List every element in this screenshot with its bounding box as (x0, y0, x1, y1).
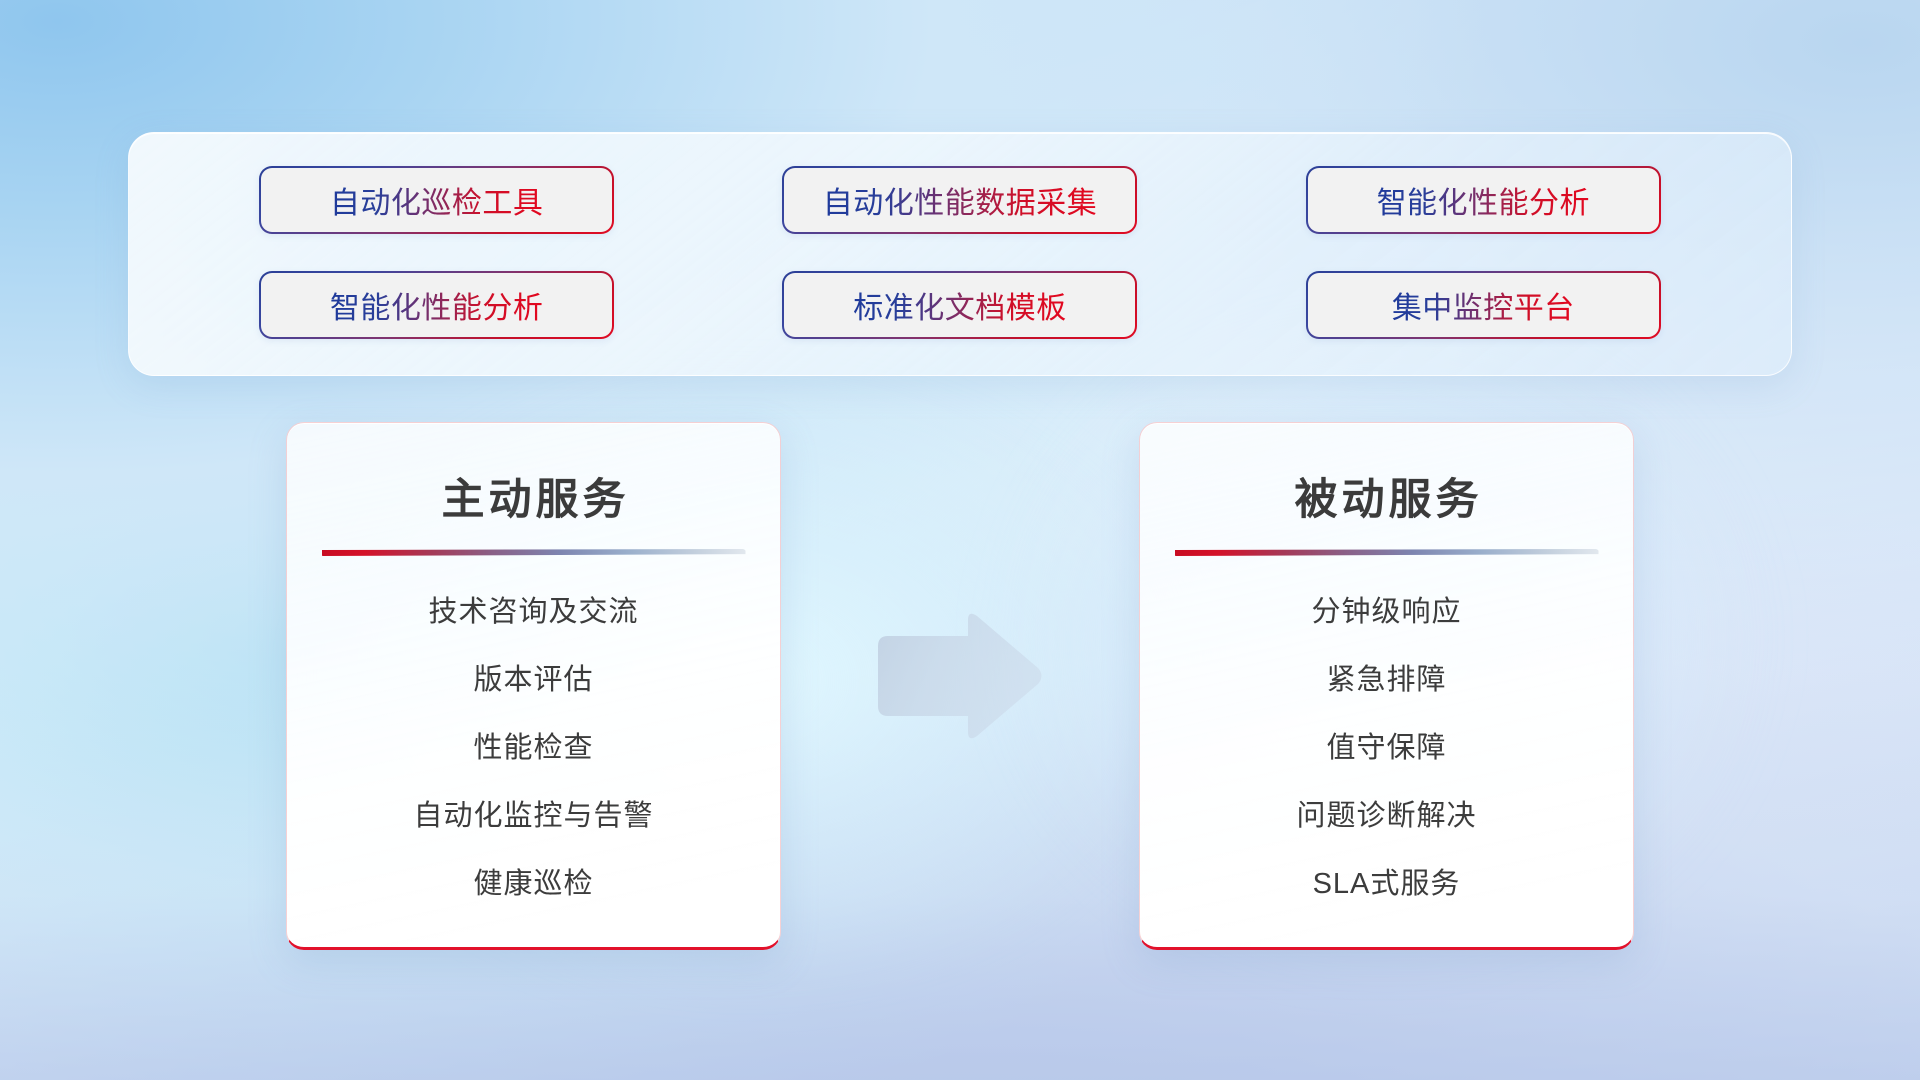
card-divider (322, 549, 746, 556)
card-divider (1175, 549, 1599, 556)
capability-pill[interactable]: 智能化性能分析 (259, 271, 614, 339)
capability-pill-label: 集中监控平台 (1392, 283, 1575, 327)
capability-pill-label: 自动化性能数据采集 (823, 178, 1098, 222)
list-item: 自动化监控与告警 (413, 792, 653, 834)
list-item: 性能检查 (473, 724, 593, 766)
capability-pill[interactable]: 集中监控平台 (1306, 271, 1661, 339)
card-title: 被动服务 (1291, 465, 1483, 527)
list-item: 版本评估 (473, 656, 593, 698)
list-item: 分钟级响应 (1311, 588, 1461, 630)
capability-pill[interactable]: 智能化性能分析 (1306, 166, 1661, 234)
card-title: 主动服务 (438, 465, 630, 527)
list-item: SLA式服务 (1313, 860, 1461, 902)
capability-pill-label: 标准化文档模板 (853, 283, 1067, 327)
capability-pill[interactable]: 标准化文档模板 (782, 271, 1137, 339)
capability-pill-label: 智能化性能分析 (1377, 178, 1591, 222)
list-item: 紧急排障 (1326, 656, 1446, 698)
capability-pill[interactable]: 自动化性能数据采集 (782, 166, 1137, 234)
list-item: 技术咨询及交流 (428, 588, 638, 630)
capability-panel: 自动化巡检工具 自动化性能数据采集 智能化性能分析 智能化性能分析 标准化文档模… (128, 132, 1792, 376)
capability-pill[interactable]: 自动化巡检工具 (259, 166, 614, 234)
capability-pill-label: 自动化巡检工具 (330, 178, 544, 222)
list-item: 健康巡检 (473, 860, 593, 902)
arrow-right-icon (872, 610, 1044, 742)
capability-pill-label: 智能化性能分析 (330, 283, 544, 327)
list-item: 问题诊断解决 (1296, 792, 1476, 834)
list-item: 值守保障 (1326, 724, 1446, 766)
service-card-reactive: 被动服务 分钟级响应 紧急排障 值守保障 问题诊断解决 SLA式服务 (1139, 422, 1634, 950)
card-item-list: 分钟级响应 紧急排障 值守保障 问题诊断解决 SLA式服务 (1140, 588, 1633, 902)
card-item-list: 技术咨询及交流 版本评估 性能检查 自动化监控与告警 健康巡检 (287, 588, 780, 902)
service-card-proactive: 主动服务 技术咨询及交流 版本评估 性能检查 自动化监控与告警 健康巡检 (286, 422, 781, 950)
